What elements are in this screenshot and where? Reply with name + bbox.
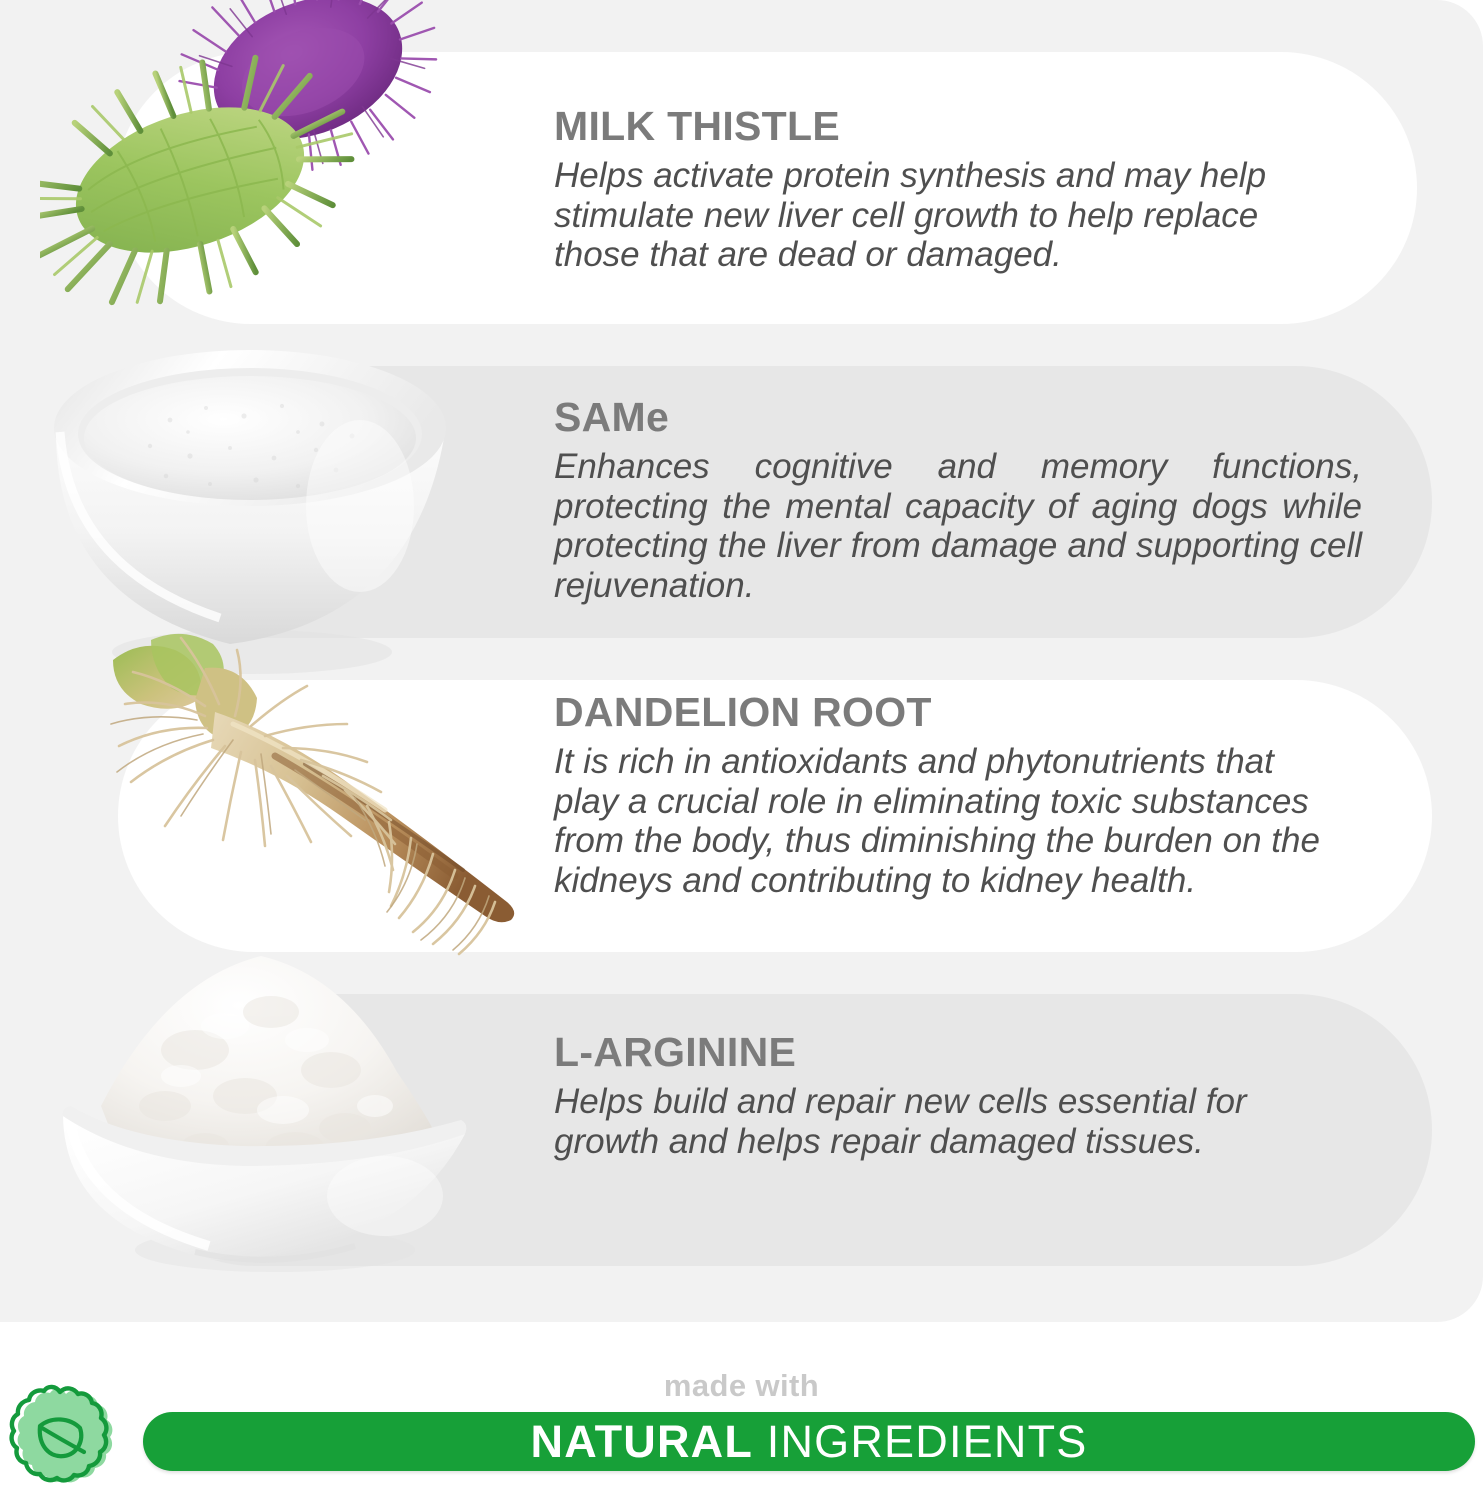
ingredient-title: MILK THISTLE <box>554 106 1314 147</box>
ingredient-text-dandelion-root: DANDELION ROOT It is rich in antioxidant… <box>554 692 1334 900</box>
banner-light-word: INGREDIENTS <box>767 1416 1088 1467</box>
made-with-label: made with <box>0 1368 1483 1404</box>
ingredient-title: DANDELION ROOT <box>554 692 1334 733</box>
ingredient-title: SAMe <box>554 397 1362 438</box>
ingredient-description: Helps build and repair new cells essenti… <box>554 1082 1314 1161</box>
infographic-root: MILK THISTLE Helps activate protein synt… <box>0 0 1483 1500</box>
natural-leaf-badge-icon <box>8 1384 120 1496</box>
ingredient-title: L-ARGININE <box>554 1032 1314 1073</box>
natural-ingredients-banner: NATURAL INGREDIENTS <box>143 1412 1475 1471</box>
ingredient-text-milk-thistle: MILK THISTLE Helps activate protein synt… <box>554 106 1314 275</box>
ingredient-description: Enhances cognitive and memory functions,… <box>554 447 1362 605</box>
banner-space <box>753 1416 767 1467</box>
banner-strong-word: NATURAL <box>531 1416 754 1467</box>
ingredient-description: It is rich in antioxidants and phytonutr… <box>554 742 1334 900</box>
ingredient-text-l-arginine: L-ARGININE Helps build and repair new ce… <box>554 1032 1314 1161</box>
ingredient-text-same: SAMe Enhances cognitive and memory funct… <box>554 397 1362 605</box>
banner-text: NATURAL INGREDIENTS <box>531 1416 1088 1468</box>
ingredient-description: Helps activate protein synthesis and may… <box>554 156 1314 275</box>
